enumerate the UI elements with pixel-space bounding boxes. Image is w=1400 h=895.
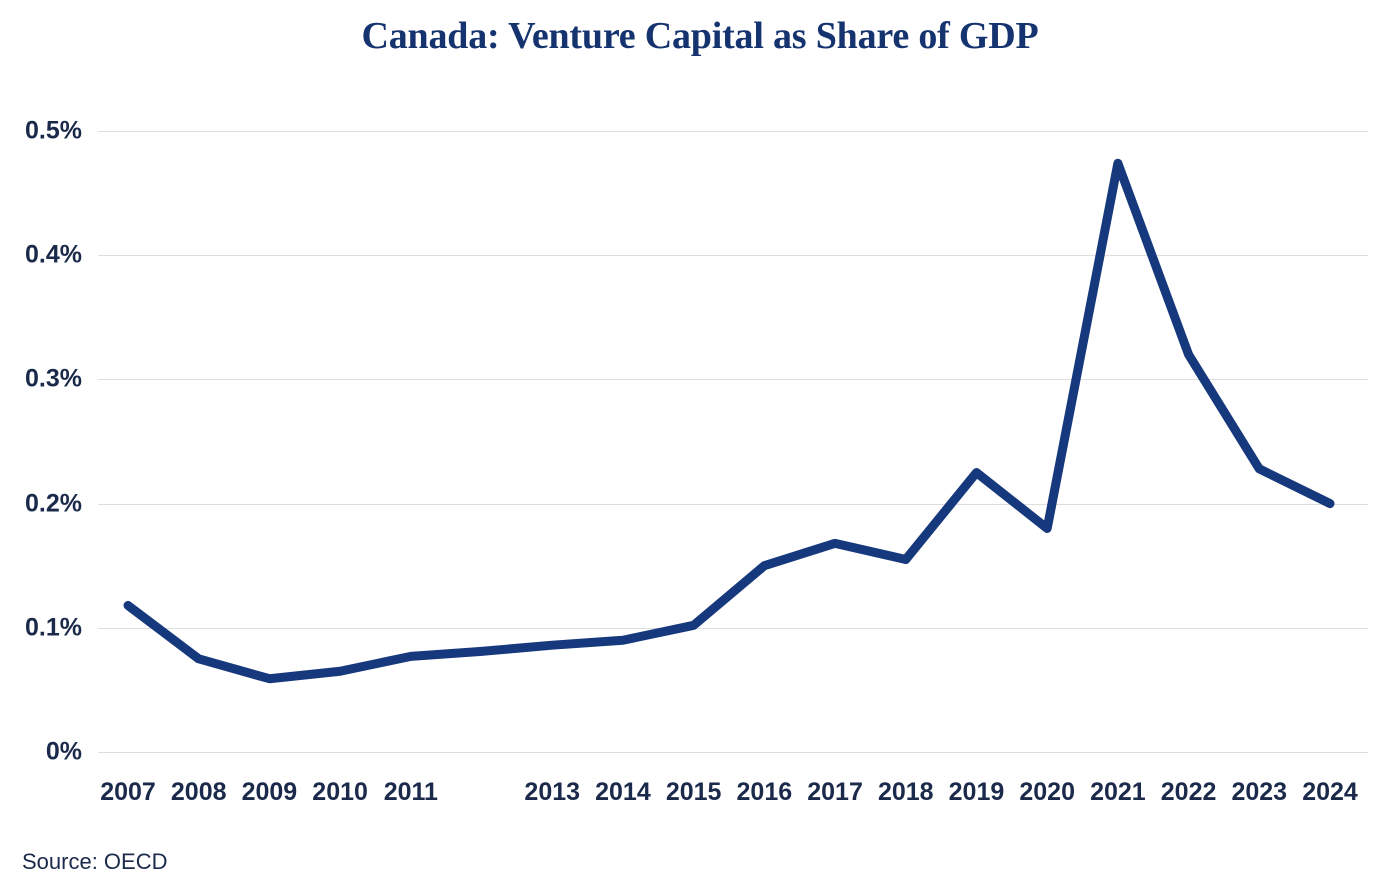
gridline (98, 255, 1368, 256)
data-series-line (0, 0, 1400, 895)
x-axis-tick-label: 2011 (356, 778, 466, 807)
gridline (98, 504, 1368, 505)
chart-container: Canada: Venture Capital as Share of GDP … (0, 0, 1400, 895)
y-axis-tick-label: 0% (0, 738, 82, 767)
source-note: Source: OECD (22, 849, 168, 875)
plot-area (98, 131, 1368, 752)
x-axis: 2007200820092010201120132014201520162017… (98, 778, 1368, 818)
y-axis-tick-label: 0.3% (0, 365, 82, 394)
y-axis-tick-label: 0.5% (0, 117, 82, 146)
y-axis-tick-label: 0.4% (0, 241, 82, 270)
chart-title: Canada: Venture Capital as Share of GDP (0, 14, 1400, 58)
y-axis-tick-label: 0.1% (0, 613, 82, 642)
series-polyline (128, 163, 1330, 678)
gridline (98, 131, 1368, 132)
gridline (98, 628, 1368, 629)
gridline (98, 752, 1368, 753)
x-axis-tick-label: 2024 (1275, 778, 1385, 807)
y-axis-tick-label: 0.2% (0, 489, 82, 518)
gridline (98, 379, 1368, 380)
